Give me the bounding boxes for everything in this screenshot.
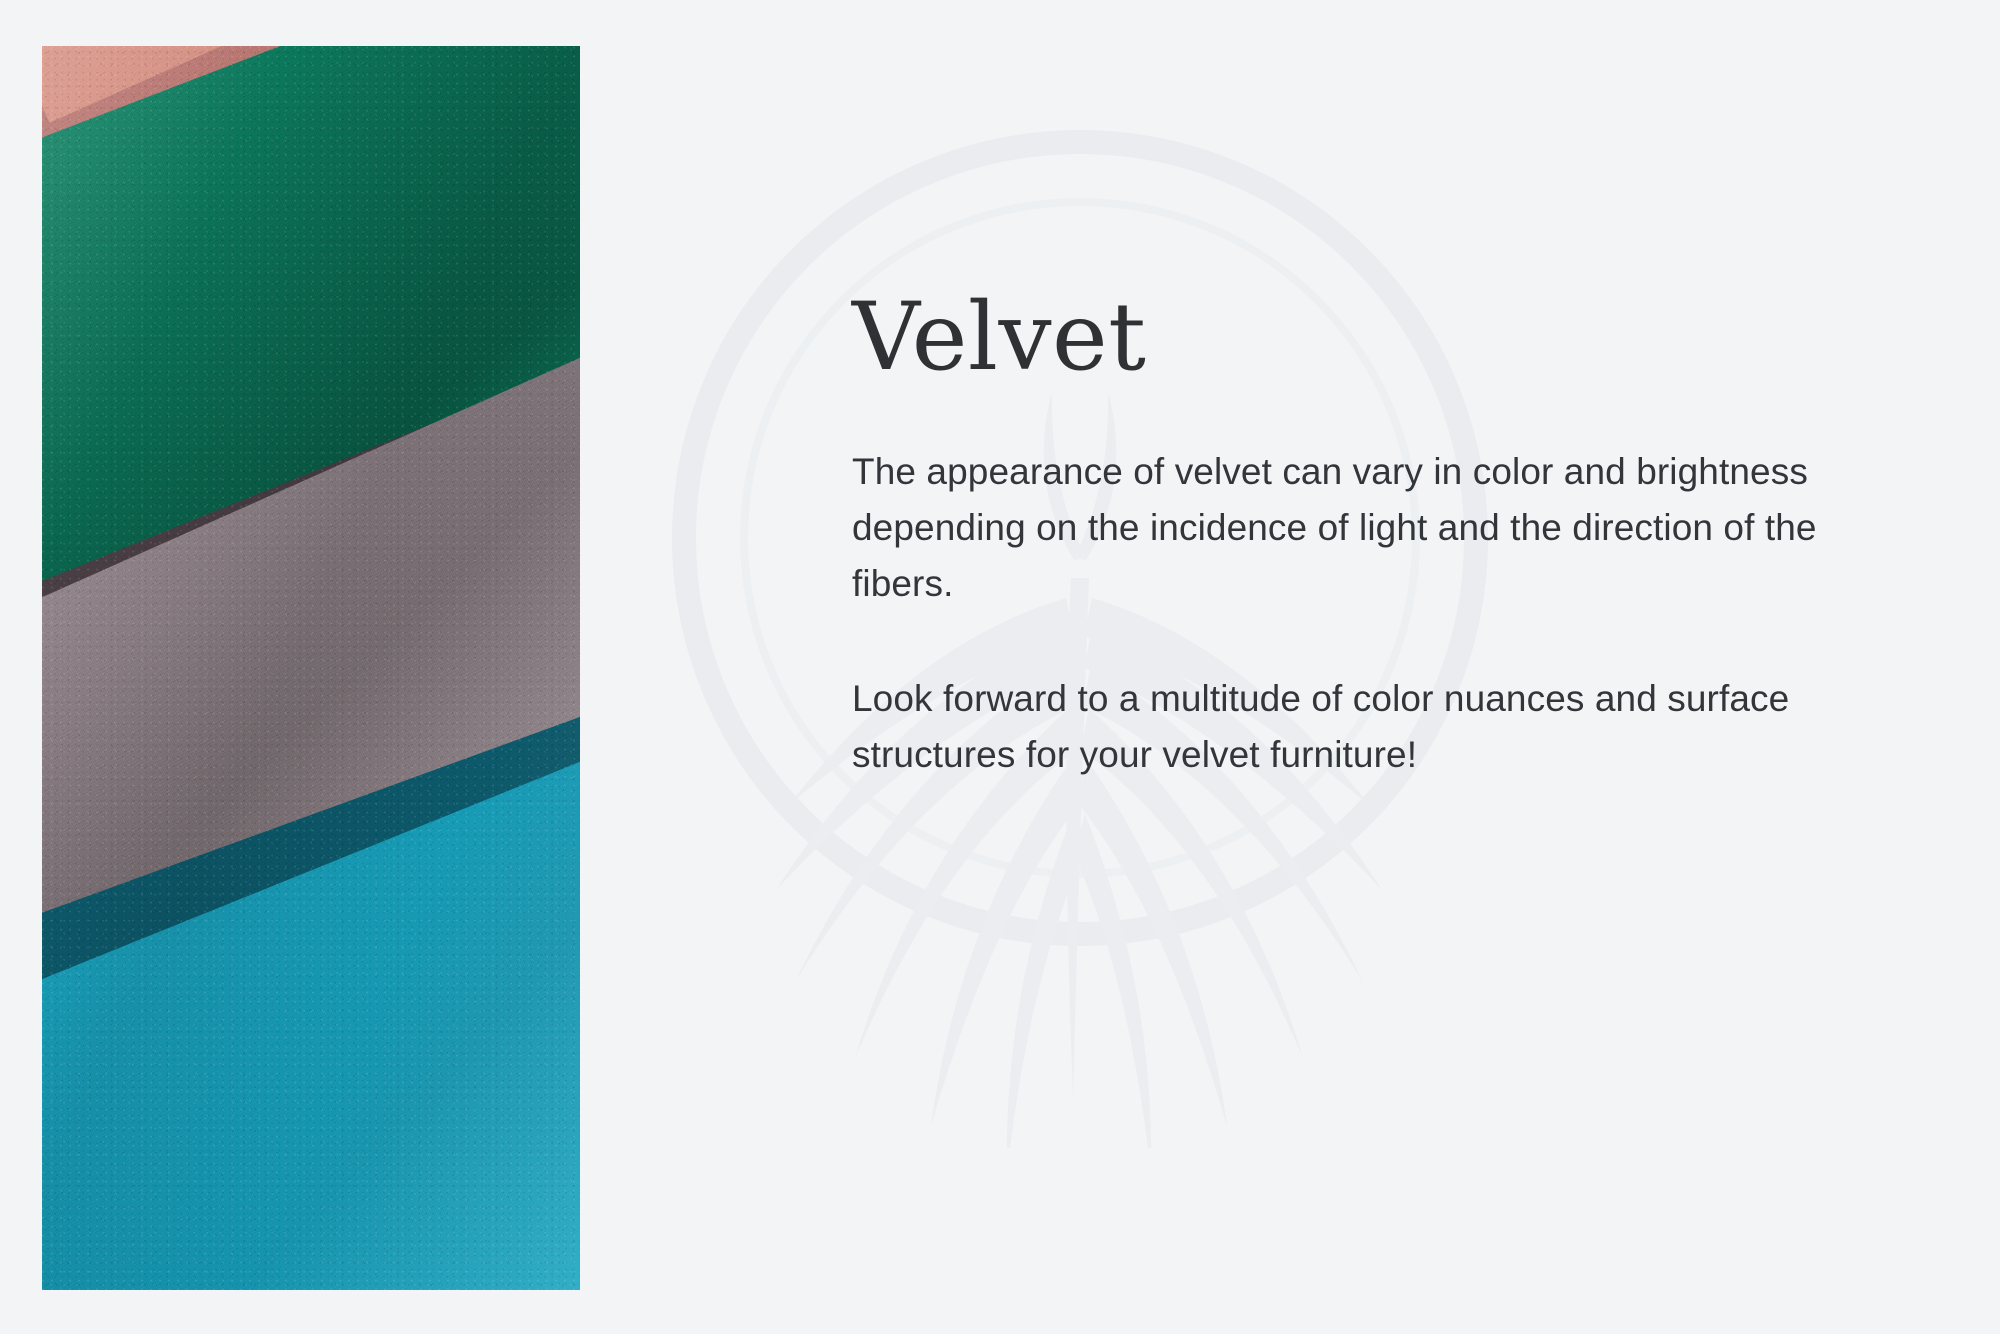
copy-block: Velvet The appearance of velvet can vary… [852,290,1882,783]
page-title: Velvet [852,290,1882,386]
fabric-swatch-stack [42,46,580,1290]
velvet-info-panel: Velvet The appearance of velvet can vary… [0,0,2000,1334]
paragraph-appearance: The appearance of velvet can vary in col… [852,444,1882,613]
text-column: Velvet The appearance of velvet can vary… [580,0,2000,1334]
velvet-fabric-photo [42,46,580,1290]
paragraph-nuances: Look forward to a multitude of color nua… [852,671,1882,783]
